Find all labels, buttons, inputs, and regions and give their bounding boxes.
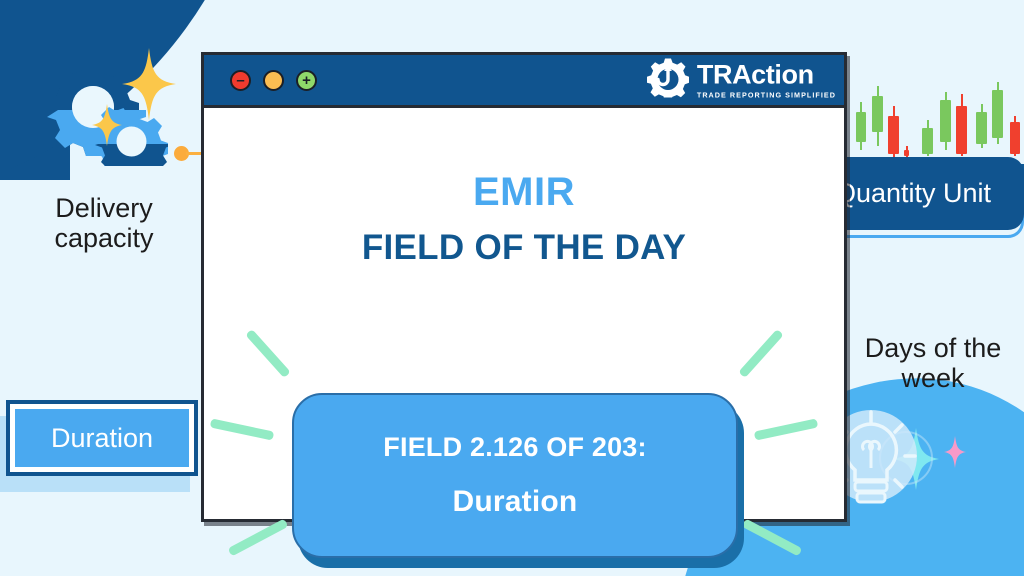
ray-mid-right xyxy=(754,418,818,440)
candle-body xyxy=(956,106,967,154)
page-subtitle-field-of-the-day: FIELD OF THE DAY xyxy=(204,228,844,268)
badge-duration[interactable]: Duration xyxy=(6,400,198,476)
traction-gear-icon xyxy=(647,58,689,103)
window-title-bar: – + TRAc xyxy=(204,55,844,108)
candle-body xyxy=(992,90,1003,138)
field-card-wrapper: FIELD 2.126 OF 203: Duration xyxy=(292,393,744,568)
field-card-name: Duration xyxy=(453,485,578,519)
sparkle-yellow-small-icon xyxy=(92,104,122,151)
field-card[interactable]: FIELD 2.126 OF 203: Duration xyxy=(292,393,738,558)
sparkle-yellow-large-icon xyxy=(122,48,176,125)
ray-bottom-right xyxy=(742,519,803,557)
candle xyxy=(1010,78,1020,170)
traction-tagline: TRADE REPORTING SIMPLIFIED xyxy=(697,91,836,98)
candle-body xyxy=(940,100,951,142)
badge-quantity-unit-label: Quantity Unit xyxy=(835,178,991,209)
minus-icon: – xyxy=(236,73,244,88)
candle-body xyxy=(1010,122,1020,154)
ray-top-left xyxy=(245,329,290,378)
expand-button[interactable]: + xyxy=(296,70,317,91)
window-content: EMIR FIELD OF THE DAY FIELD 2.126 OF 203… xyxy=(204,170,844,576)
field-card-number: FIELD 2.126 OF 203: xyxy=(383,432,646,463)
label-days-of-the-week: Days of the week xyxy=(842,333,1024,393)
candle-body xyxy=(976,112,987,144)
label-delivery-capacity: Delivery capacity xyxy=(14,193,194,253)
maximize-button[interactable] xyxy=(263,70,284,91)
badge-duration-frame: Duration xyxy=(6,400,198,476)
ray-top-right xyxy=(738,329,783,378)
badge-duration-label: Duration xyxy=(51,423,153,454)
minimize-button[interactable]: – xyxy=(230,70,251,91)
plus-icon: + xyxy=(302,73,311,88)
sparkle-pink-icon xyxy=(944,436,966,473)
app-window: – + TRAc xyxy=(201,52,847,522)
window-controls: – + xyxy=(230,70,317,91)
poster-canvas: Delivery capacity Duration Quantity Unit… xyxy=(0,0,1024,576)
page-title-emir: EMIR xyxy=(204,170,844,215)
candle-body xyxy=(922,128,933,154)
candle-body xyxy=(904,150,909,156)
badge-duration-fill: Duration xyxy=(15,409,189,467)
candle-body xyxy=(872,96,883,132)
traction-logo: TRAction TRADE REPORTING SIMPLIFIED xyxy=(647,58,836,103)
ray-mid-left xyxy=(210,418,274,440)
ray-bottom-left xyxy=(228,519,289,557)
traction-name: TRAction xyxy=(697,61,836,88)
traction-wordmark: TRAction TRADE REPORTING SIMPLIFIED xyxy=(697,61,836,98)
candle-body xyxy=(856,112,866,142)
candle-body xyxy=(888,116,899,154)
